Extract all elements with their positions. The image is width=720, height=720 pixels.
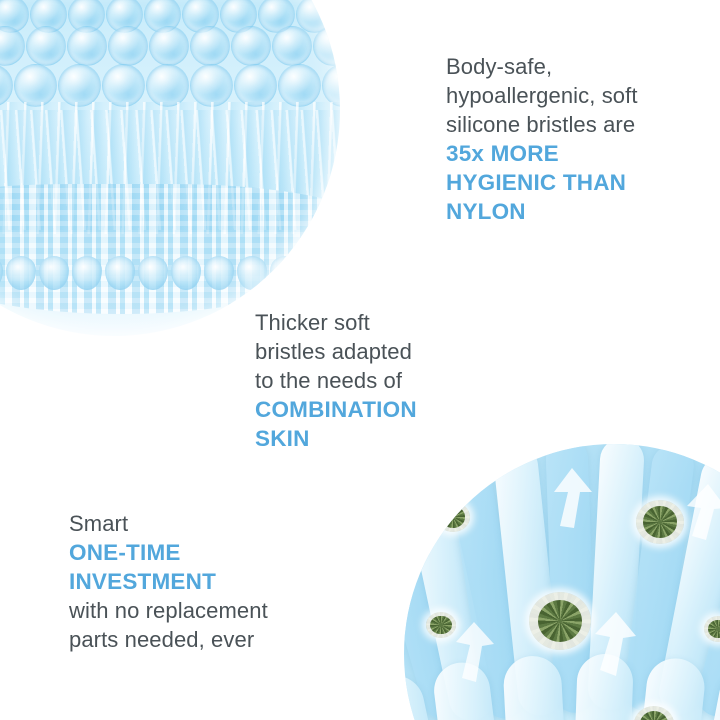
bristle-bulb [6,256,36,290]
claim-line: Smart [69,509,268,538]
bristle-macro-photo [0,0,340,336]
claim-line: bristles adapted [255,337,417,366]
upward-arrow-icon [446,620,498,686]
bristle-bulb [138,256,168,290]
bristle-tip [102,64,145,107]
bristle-tip [0,64,13,107]
bristle-tip [231,26,271,66]
bristle-tip [14,64,57,107]
upward-arrow-icon [676,482,720,544]
bristle-bulb [270,256,300,290]
claim-highlight-line: 35x MORE [446,139,638,168]
claim-highlight-line: INVESTMENT [69,567,268,596]
claim-line: to the needs of [255,366,417,395]
claim-line: parts needed, ever [69,625,268,654]
bristle-tip [67,26,107,66]
upward-arrow-icon [542,466,596,532]
bristle-bulb [72,256,102,290]
claim-highlight-line: SKIN [255,424,417,453]
combination-skin-claim: Thicker soft bristles adapted to the nee… [255,308,417,453]
thick-bristles-bacteria-photo [404,444,720,720]
bristle-bulb [39,256,69,290]
thick-bristles-circle [404,444,720,720]
bristle-tip [146,64,189,107]
bristle-bulb [105,256,135,290]
bristle-bulb [171,256,201,290]
bristle-tip [278,64,321,107]
claim-line: Body-safe, [446,52,638,81]
upward-arrow-icon [582,610,640,680]
lower-bristle-mass [0,184,340,314]
bristle-tip [190,64,233,107]
bristle-tip-row [0,64,340,107]
claim-highlight-line: COMBINATION [255,395,417,424]
bristle-macro-circle [0,0,340,336]
bristle-bulb [303,256,333,290]
claim-line: Thicker soft [255,308,417,337]
lower-bristle-bulb-row [0,256,340,290]
infographic-page: Body-safe, hypoallergenic, soft silicone… [0,0,720,720]
bristle-tip [149,26,189,66]
bristle-tip [313,26,340,66]
claim-line: silicone bristles are [446,110,638,139]
bristle-bulb [204,256,234,290]
bristle-tip [108,26,148,66]
bristle-tip [272,26,312,66]
one-time-investment-claim: Smart ONE-TIME INVESTMENT with no replac… [69,509,268,654]
claim-highlight-line: ONE-TIME [69,538,268,567]
bristle-tip [26,26,66,66]
bacteria-cluster [436,502,470,532]
bristle-tip [190,26,230,66]
hygienic-claim: Body-safe, hypoallergenic, soft silicone… [446,52,638,226]
claim-highlight-line: HYGIENIC THAN [446,168,638,197]
claim-highlight-line: NYLON [446,197,638,226]
bristle-tip [322,64,340,107]
bristle-tip [58,64,101,107]
bristle-tip [0,26,25,66]
bristle-tip-row [0,26,340,66]
claim-line: hypoallergenic, soft [446,81,638,110]
claim-line: with no replacement [69,596,268,625]
bristle-bulb [0,256,3,290]
bristle-bulb [237,256,267,290]
bristle-tip [234,64,277,107]
